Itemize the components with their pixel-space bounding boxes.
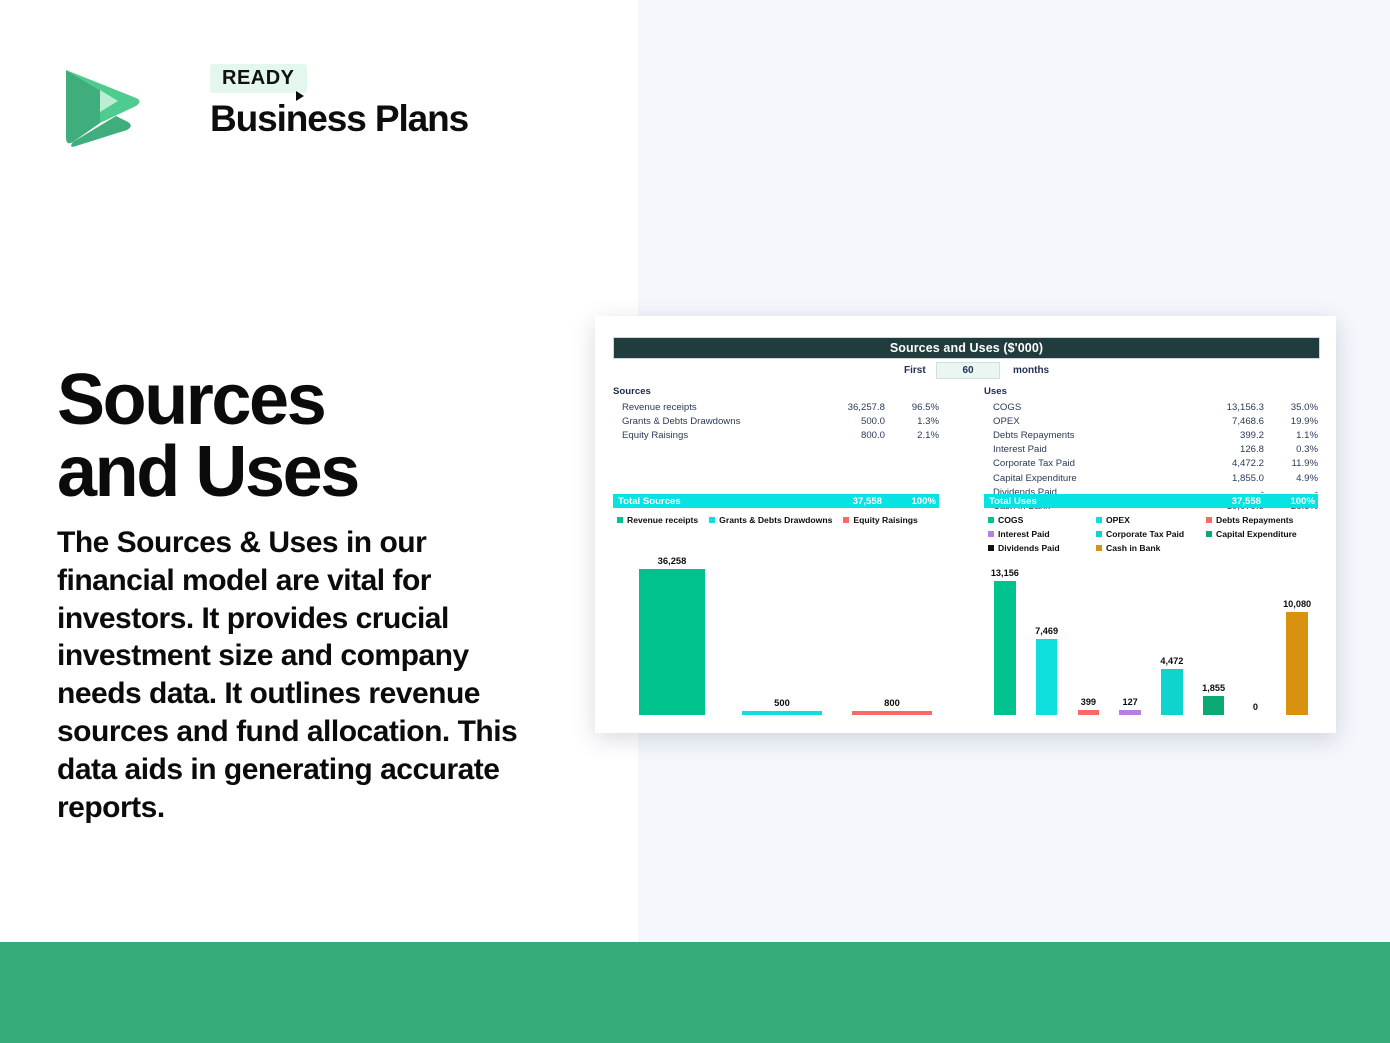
total-label: Total Uses [984,496,1185,507]
bar-slot: 1,855 [1193,555,1235,715]
bar-slot: 36,258 [617,555,727,715]
bar-slot: 399 [1068,555,1110,715]
legend-label: OPEX [1106,515,1130,525]
legend-label: Grants & Debts Drawdowns [719,515,832,525]
brand-logo: READY Business Plans [58,60,478,165]
chart-bar [1161,669,1183,715]
total-pct: 100% [882,496,939,507]
sources-plot-area: 36,258500800 [617,555,947,715]
total-value: 37,558 [1185,496,1261,507]
bar-value-label: 500 [774,697,790,708]
chart-bar [1286,612,1308,715]
legend-swatch-icon [843,517,849,523]
uses-section-header: Uses [984,386,1318,400]
sources-table: Sources Revenue receipts 36,257.8 96.5% … [613,386,939,443]
page-title-line-2: and Uses [57,432,358,512]
total-sources-row: Total Sources 37,558 100% [613,494,939,508]
table-row: COGS 13,156.3 35.0% [984,400,1318,414]
bar-value-label: 36,258 [658,555,687,566]
legend-item: Grants & Debts Drawdowns [709,515,832,525]
row-value: 13,156.3 [1188,400,1264,414]
table-row: Corporate Tax Paid 4,472.2 11.9% [984,457,1318,471]
row-pct: 1.1% [1264,428,1318,442]
sources-chart-legend: Revenue receiptsGrants & Debts Drawdowns… [617,515,947,525]
chart-bar [639,569,705,715]
total-uses-row: Total Uses 37,558 100% [984,494,1318,508]
row-pct: 96.5% [885,400,939,414]
row-label: COGS [984,400,1188,414]
sources-section-header: Sources [613,386,939,400]
table-row: Revenue receipts 36,257.8 96.5% [613,400,939,414]
period-prefix-label: First [904,365,926,376]
bar-value-label: 4,472 [1160,656,1183,666]
page-title: Sources and Uses [57,364,597,508]
brand-name-text: Business Plans [210,98,468,139]
legend-item: OPEX [1096,515,1206,525]
bar-slot: 7,469 [1026,555,1068,715]
chart-bar [1078,710,1100,715]
row-pct: 11.9% [1264,457,1318,471]
row-value: 500.0 [809,414,885,428]
chart-bar [994,581,1016,715]
legend-item: Equity Raisings [843,515,917,525]
chart-bar [1036,639,1058,715]
logo-wordmark: READY Business Plans [210,64,468,139]
bar-value-label: 0 [1253,702,1258,712]
bar-slot: 800 [837,555,947,715]
play-triangle-logo-icon [58,60,148,150]
table-row: Equity Raisings 800.0 2.1% [613,428,939,442]
row-label: OPEX [984,414,1188,428]
row-pct: 2.1% [885,428,939,442]
table-row: Debts Repayments 399.2 1.1% [984,428,1318,442]
chart-bar [1119,710,1141,715]
legend-item: Revenue receipts [617,515,698,525]
legend-label: COGS [998,515,1023,525]
sources-bar-chart: 36,258500800 [617,535,947,715]
bar-slot: 127 [1109,555,1151,715]
legend-swatch-icon [617,517,623,523]
period-months-input[interactable]: 60 [936,362,1000,379]
row-value: 7,468.6 [1188,414,1264,428]
bar-slot: 0 [1235,555,1277,715]
bar-value-label: 127 [1122,697,1137,707]
row-pct: 35.0% [1264,400,1318,414]
bar-slot: 10,080 [1276,555,1318,715]
period-suffix-label: months [1013,365,1049,376]
total-pct: 100% [1261,496,1318,507]
row-value: 1,855.0 [1188,471,1264,485]
legend-swatch-icon [1206,517,1212,523]
ready-badge: READY [210,64,307,93]
uses-table: Uses COGS 13,156.3 35.0% OPEX 7,468.6 19… [984,386,1318,514]
legend-item: COGS [988,515,1096,525]
row-value: 800.0 [809,428,885,442]
total-label: Total Sources [613,496,806,507]
bar-value-label: 800 [884,697,900,708]
row-value: 36,257.8 [809,400,885,414]
bar-slot: 13,156 [984,555,1026,715]
bar-value-label: 7,469 [1035,626,1058,636]
chart-bar [852,711,931,715]
row-value: 4,472.2 [1188,457,1264,471]
chart-bar [1203,696,1225,715]
uses-plot-area: 13,1567,4693991274,4721,855010,080 [984,555,1318,715]
row-label: Capital Expenditure [984,471,1188,485]
chart-bar [742,711,821,715]
row-label: Debts Repayments [984,428,1188,442]
page-description: The Sources & Uses in our financial mode… [57,524,527,826]
sheet-title-bar: Sources and Uses ($'000) [613,337,1320,359]
row-label: Equity Raisings [613,428,809,442]
row-pct: 0.3% [1264,443,1318,457]
bar-value-label: 10,080 [1283,599,1311,609]
bar-slot: 500 [727,555,837,715]
legend-swatch-icon [709,517,715,523]
legend-label: Revenue receipts [627,515,698,525]
legend-label: Equity Raisings [853,515,917,525]
brand-name: Business Plans [210,100,468,139]
row-label: Corporate Tax Paid [984,457,1188,471]
bar-value-label: 399 [1081,697,1096,707]
sources-rows: Revenue receipts 36,257.8 96.5% Grants &… [613,400,939,443]
total-value: 37,558 [806,496,882,507]
brand-tick-icon [296,91,304,101]
row-label: Revenue receipts [613,400,809,414]
legend-swatch-icon [1096,517,1102,523]
bar-value-label: 1,855 [1202,683,1225,693]
spreadsheet-screenshot-card: Sources and Uses ($'000) First 60 months… [595,316,1336,733]
legend-swatch-icon [988,517,994,523]
row-label: Interest Paid [984,443,1188,457]
row-label: Grants & Debts Drawdowns [613,414,809,428]
table-row: Capital Expenditure 1,855.0 4.9% [984,471,1318,485]
row-value: 126.8 [1188,443,1264,457]
bar-value-label: 13,156 [991,568,1019,578]
row-pct: 4.9% [1264,471,1318,485]
row-pct: 1.3% [885,414,939,428]
legend-label: Debts Repayments [1216,515,1293,525]
row-pct: 19.9% [1264,414,1318,428]
table-row: Interest Paid 126.8 0.3% [984,443,1318,457]
table-row: OPEX 7,468.6 19.9% [984,414,1318,428]
period-selector-row: First 60 months [613,361,1318,380]
row-value: 399.2 [1188,428,1264,442]
page-title-line-1: Sources [57,360,324,440]
table-row: Grants & Debts Drawdowns 500.0 1.3% [613,414,939,428]
legend-item: Debts Repayments [1206,515,1318,525]
bottom-accent-band [0,942,1390,1043]
bar-slot: 4,472 [1151,555,1193,715]
uses-bar-chart: 13,1567,4693991274,4721,855010,080 [984,535,1318,715]
